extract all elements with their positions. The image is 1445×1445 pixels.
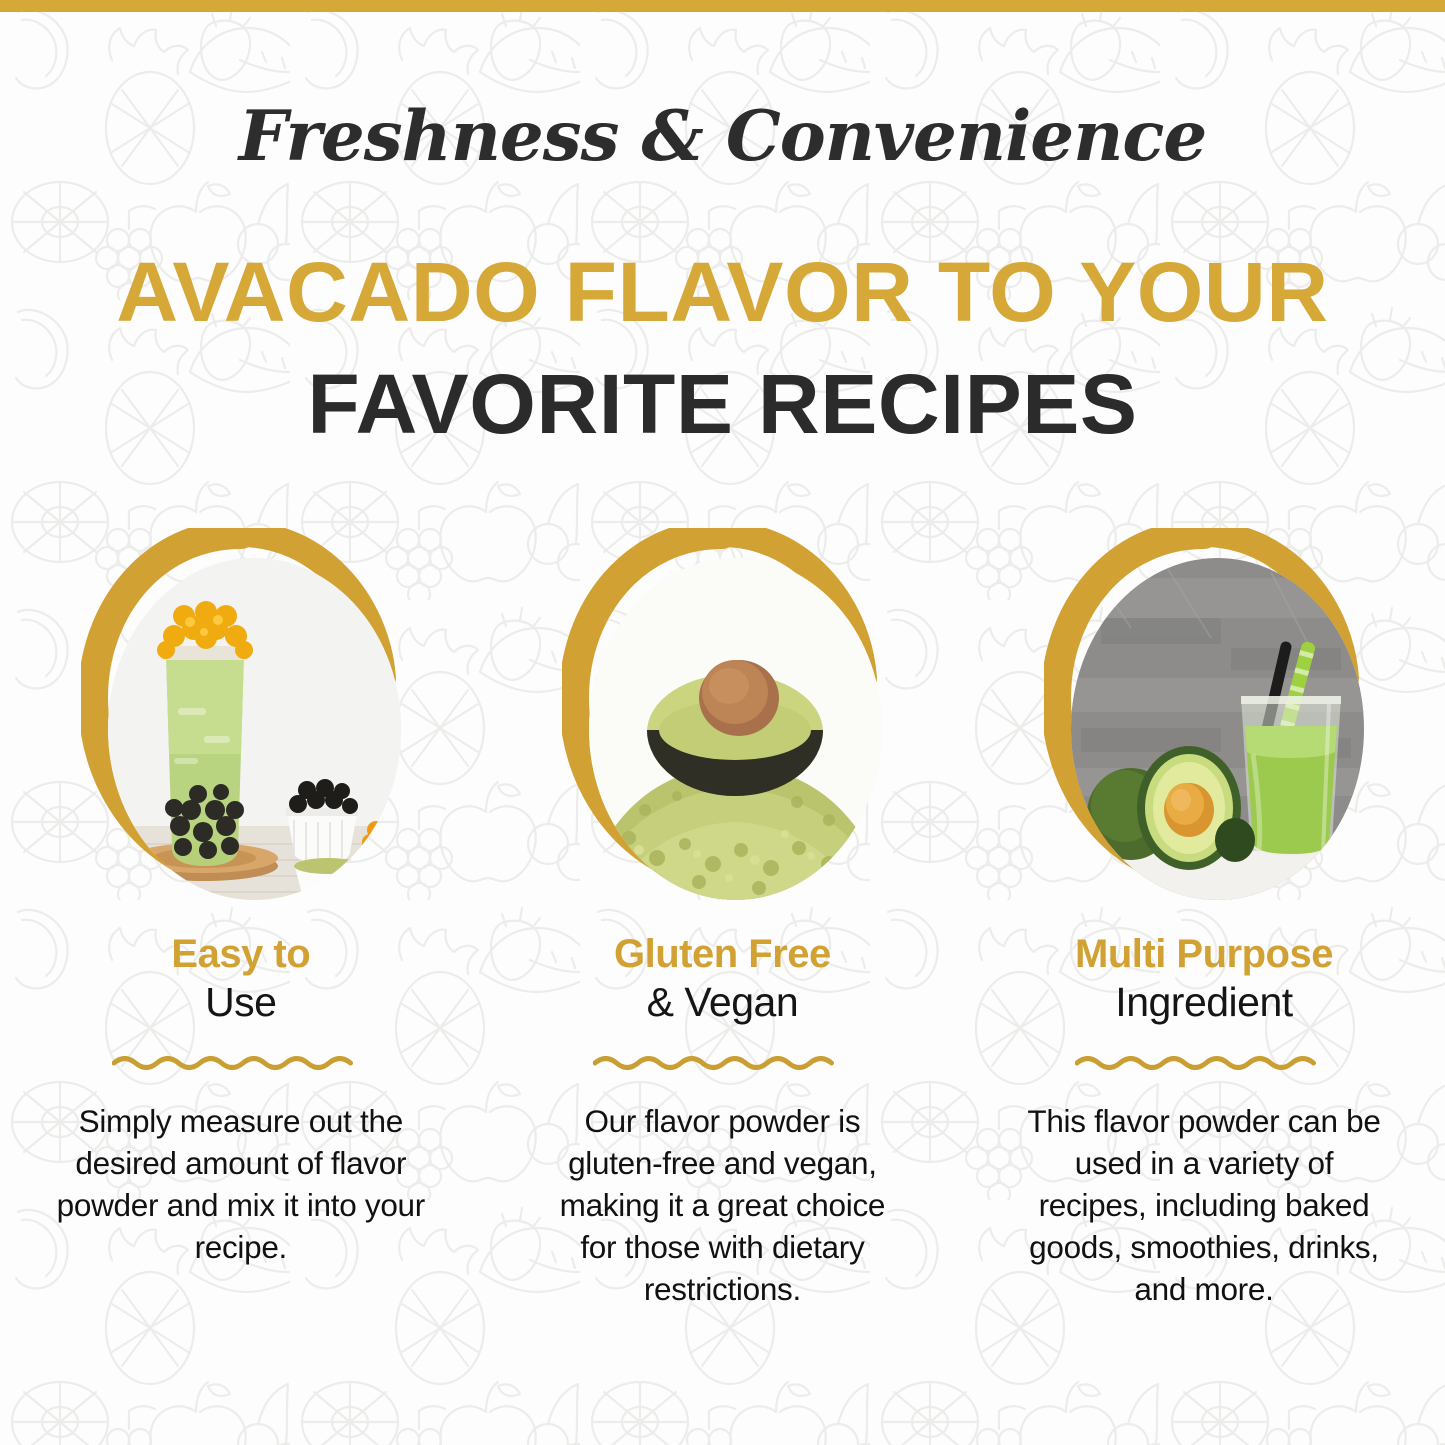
feature-columns: Easy to Use Simply measure out the desir… xyxy=(0,528,1445,1388)
feature-title-gold: Gluten Free xyxy=(614,933,831,975)
avocado-powder-photo xyxy=(589,558,882,900)
feature-title-1: Easy to Use xyxy=(171,933,310,1024)
feature-title-dark: & Vegan xyxy=(614,981,831,1024)
feature-media-1 xyxy=(81,528,401,900)
headline-line-gold: AVACADO FLAVOR TO YOUR xyxy=(0,236,1445,348)
feature-body-3: This flavor powder can be used in a vari… xyxy=(1018,1100,1390,1310)
infographic-page: Freshness & Convenience AVACADO FLAVOR T… xyxy=(0,0,1445,1445)
page-title: AVACADO FLAVOR TO YOUR FAVORITE RECIPES xyxy=(0,236,1445,460)
feature-title-3: Multi Purpose Ingredient xyxy=(1075,933,1333,1024)
feature-body-2: Our flavor powder is gluten-free and veg… xyxy=(542,1100,902,1310)
feature-body-1: Simply measure out the desired amount of… xyxy=(46,1100,436,1268)
feature-media-3 xyxy=(1044,528,1364,900)
headline-line-dark: FAVORITE RECIPES xyxy=(0,348,1445,460)
feature-card-gluten-free-vegan: Gluten Free & Vegan Our flavor powder is… xyxy=(482,528,964,1388)
feature-title-gold: Easy to xyxy=(171,933,310,975)
bubble-tea-photo xyxy=(108,558,401,900)
feature-title-2: Gluten Free & Vegan xyxy=(614,933,831,1024)
wavy-line-divider xyxy=(112,1052,370,1074)
avocado-smoothie-photo xyxy=(1071,558,1364,900)
wavy-line-divider xyxy=(593,1052,851,1074)
feature-card-multi-purpose: Multi Purpose Ingredient This flavor pow… xyxy=(963,528,1445,1388)
feature-title-dark: Use xyxy=(171,981,310,1024)
feature-card-easy-to-use: Easy to Use Simply measure out the desir… xyxy=(0,528,482,1388)
wavy-line-divider xyxy=(1075,1052,1333,1074)
feature-title-dark: Ingredient xyxy=(1075,981,1333,1024)
page-subtitle: Freshness & Convenience xyxy=(0,96,1445,177)
top-gold-bar xyxy=(0,0,1445,12)
feature-title-gold: Multi Purpose xyxy=(1075,933,1333,975)
feature-media-2 xyxy=(562,528,882,900)
